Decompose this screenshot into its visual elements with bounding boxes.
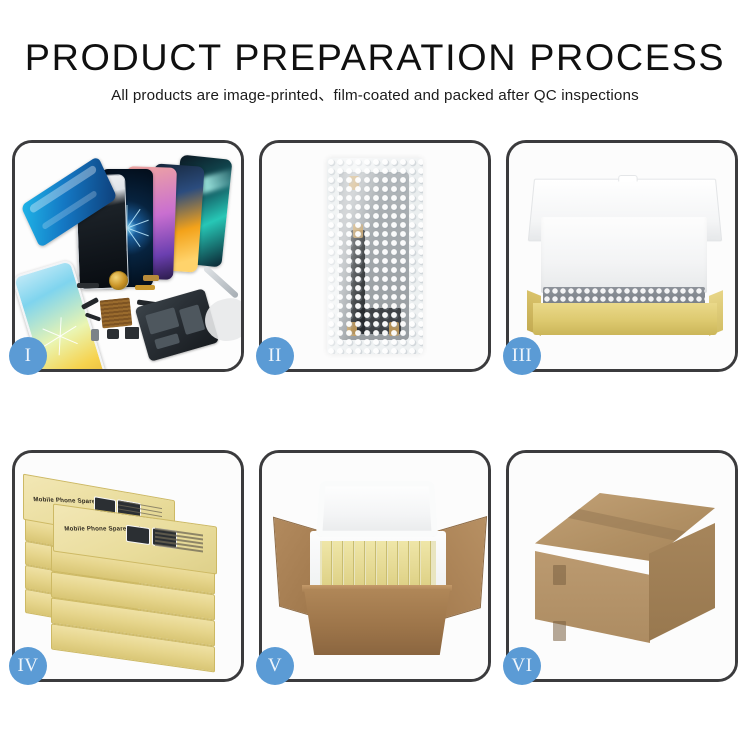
yellow-box-front: [533, 303, 717, 335]
page-subtitle: All products are image-printed、film-coat…: [0, 86, 750, 106]
step-badge-6: VI: [503, 647, 541, 685]
process-step-grid: I II: [12, 140, 738, 682]
process-step-panel-3: III: [506, 140, 738, 372]
box-print-label: Mobile Phone Spare Parts: [64, 513, 207, 560]
yellow-boxes-tray: [320, 541, 436, 589]
part-chip: [77, 283, 99, 288]
step-badge-3: III: [503, 337, 541, 375]
box-stack: Mobile Phone Spare Parts Mobile Phone Sp…: [15, 453, 241, 679]
step-badge-5: V: [256, 647, 294, 685]
panel-3-image: [509, 143, 735, 369]
step-badge-2: II: [256, 337, 294, 375]
carton-seam-tab: [553, 565, 566, 585]
process-step-panel-5: V: [259, 450, 491, 682]
flex-cable: [81, 297, 99, 310]
header: PRODUCT PREPARATION PROCESS All products…: [0, 36, 750, 106]
panel-5-image: [262, 453, 488, 679]
speaker-component-icon: [109, 271, 128, 290]
part-chip: [125, 327, 139, 339]
part-chip: [135, 285, 155, 290]
process-step-panel-1: I: [12, 140, 244, 372]
panel-2-image: [262, 143, 488, 369]
tweezers-tool-icon: [203, 265, 240, 299]
white-foam-sheet: [541, 217, 707, 293]
step-badge-4: IV: [9, 647, 47, 685]
panel-4-image: Mobile Phone Spare Parts Mobile Phone Sp…: [15, 453, 241, 679]
process-step-panel-6: VI: [506, 450, 738, 682]
styrofoam-lid: [316, 481, 438, 537]
panel-1-image: [15, 143, 241, 369]
carton-front-wall: [304, 589, 450, 655]
flex-cable: [85, 312, 101, 321]
box-label-thumbnail: [126, 525, 149, 546]
part-chip: [91, 329, 99, 341]
page-title: PRODUCT PREPARATION PROCESS: [0, 36, 750, 80]
bubble-wrap-bag: [327, 158, 423, 354]
box-label-bullet-lines: [155, 528, 203, 555]
step-badge-1: I: [9, 337, 47, 375]
process-step-panel-4: Mobile Phone Spare Parts Mobile Phone Sp…: [12, 450, 244, 682]
process-step-panel-2: II: [259, 140, 491, 372]
part-chip: [107, 329, 119, 339]
product-preparation-process-page: PRODUCT PREPARATION PROCESS All products…: [0, 0, 750, 750]
ic-grid-chip: [100, 298, 133, 329]
panel-1-spare-parts: [15, 143, 241, 369]
part-chip: [143, 275, 159, 281]
panel-6-image: [509, 453, 735, 679]
carton-seam-tab: [553, 621, 566, 641]
